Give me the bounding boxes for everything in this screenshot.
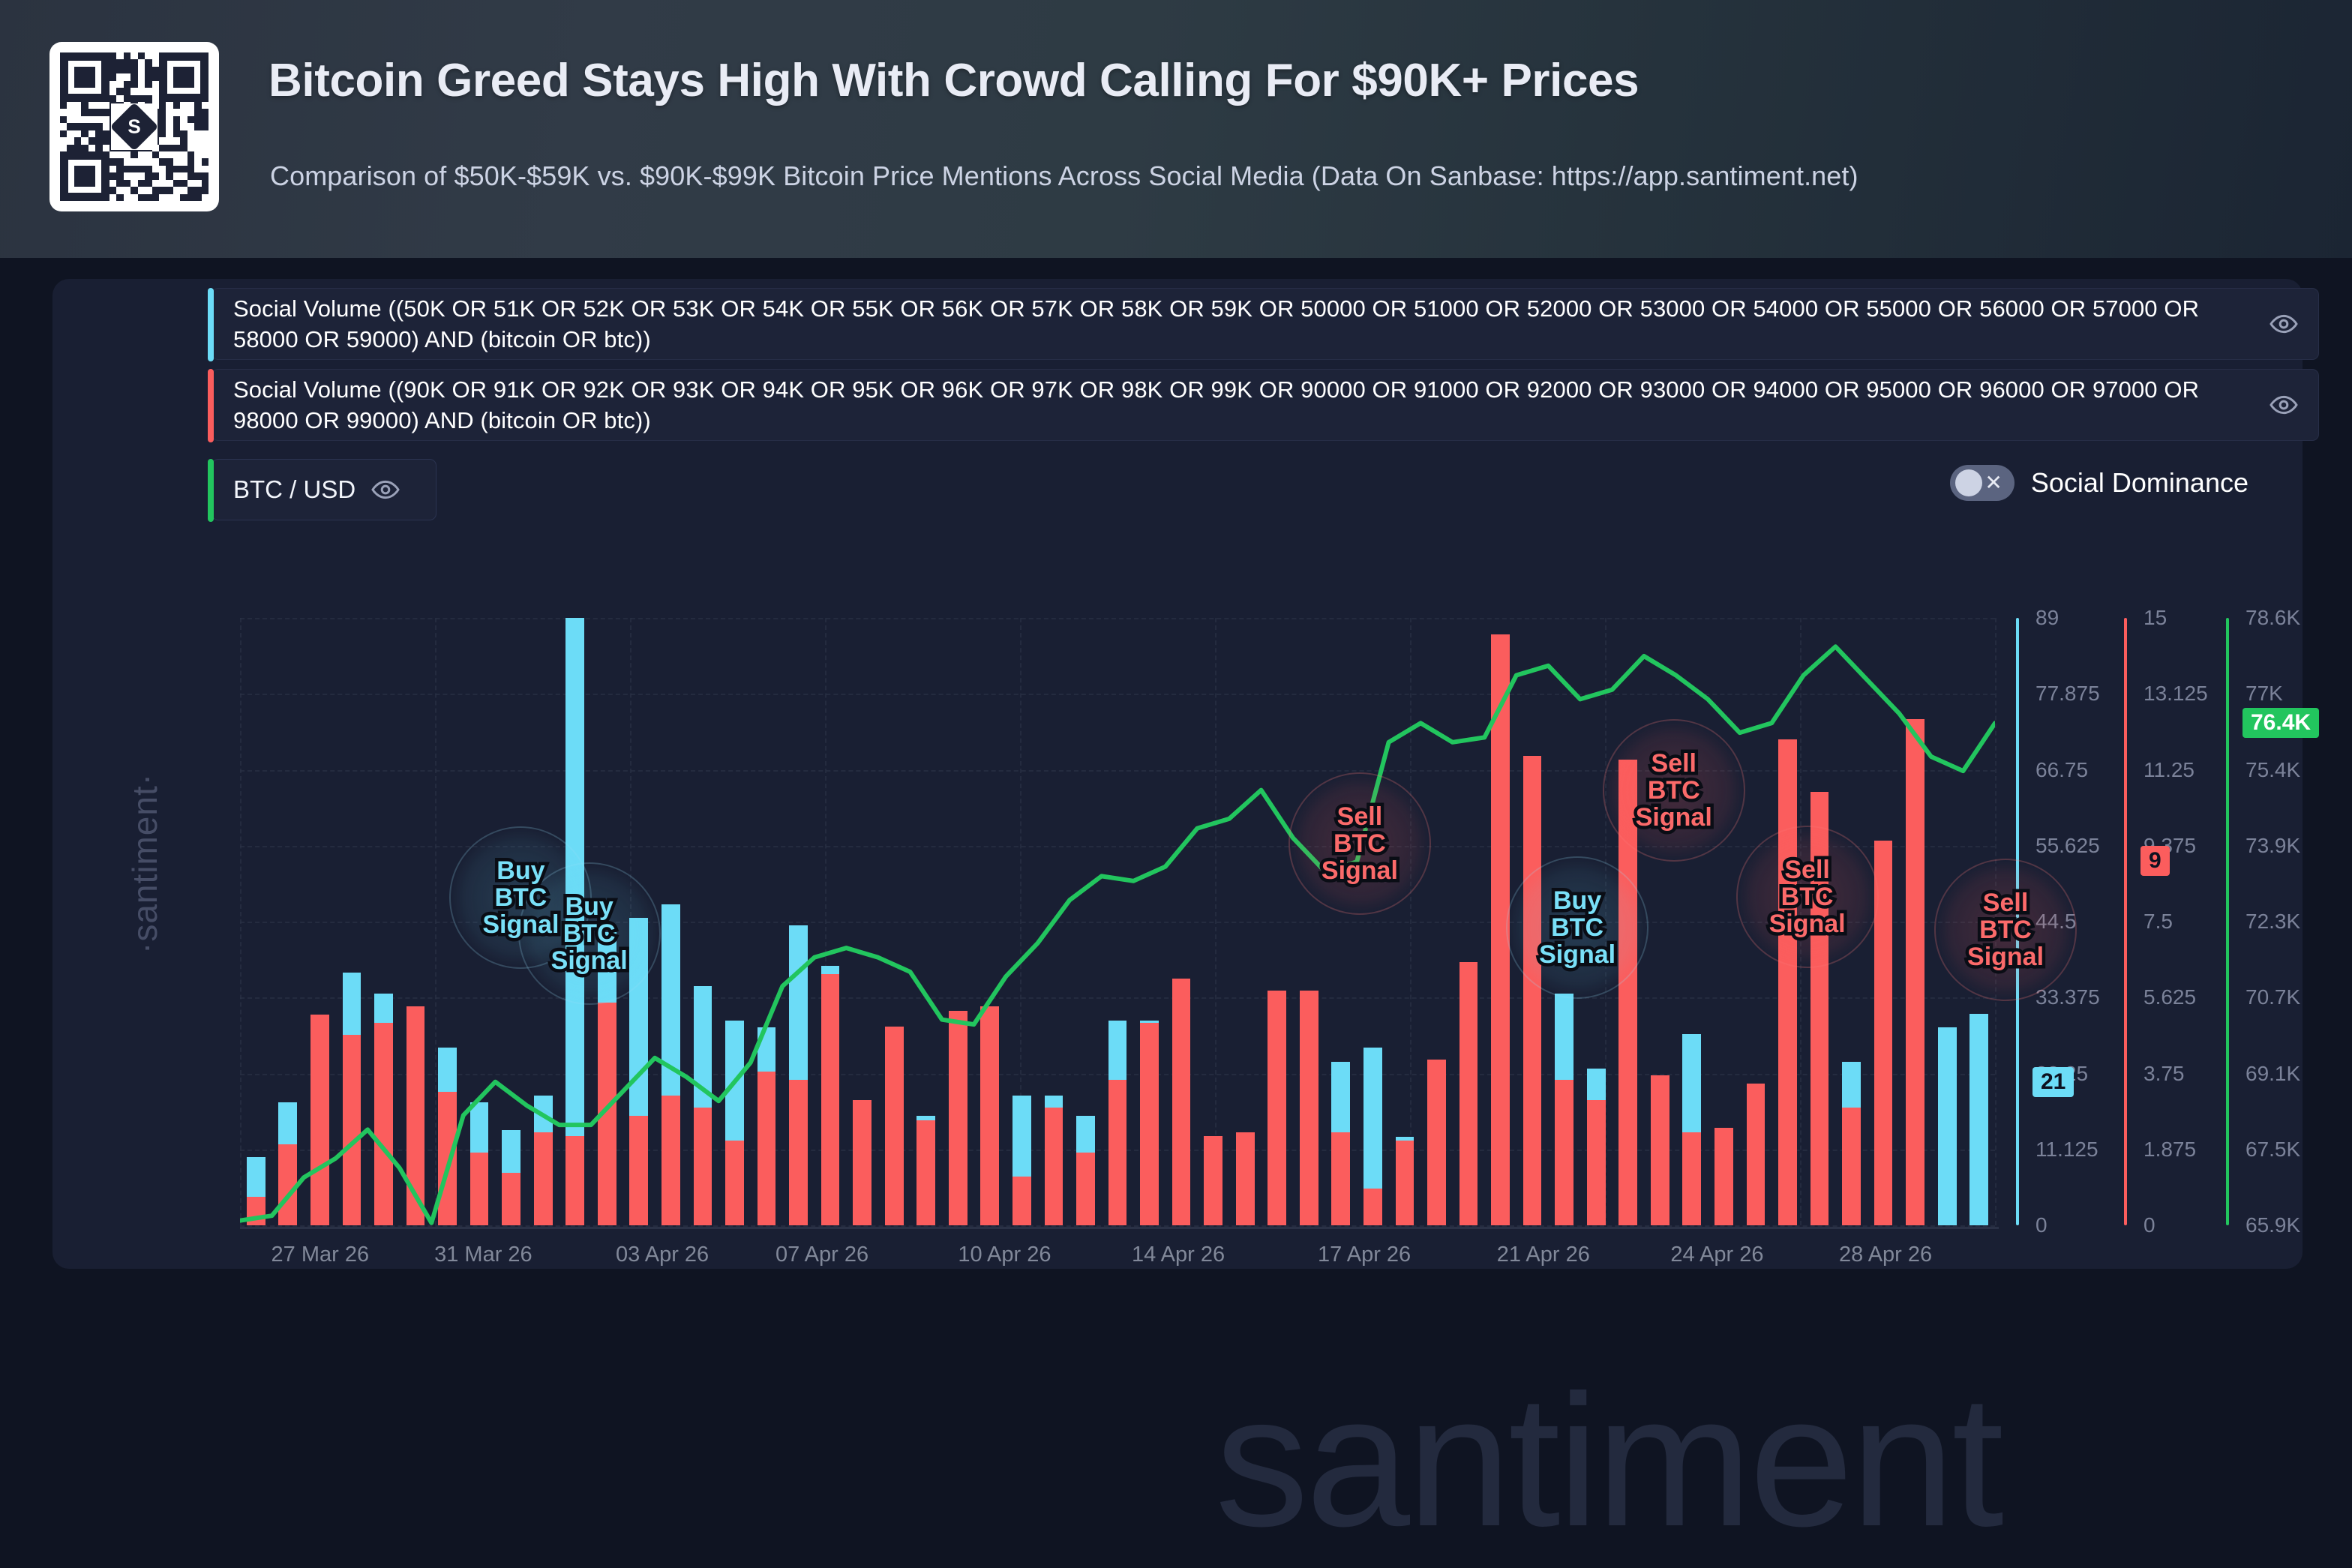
bar-social-volume-90k [470, 1153, 489, 1225]
bar-social-volume-90k [1842, 1108, 1861, 1225]
bar-social-volume-90k [1236, 1132, 1255, 1225]
bar-social-volume-90k [949, 1011, 967, 1225]
axis-current-value-badge: 21 [2032, 1067, 2074, 1097]
x-axis-tick-label: 10 Apr 26 [958, 1243, 1051, 1267]
series-color-swatch-red [208, 369, 214, 442]
bar-social-volume-90k [1108, 1080, 1127, 1225]
bar-social-volume-90k [374, 1023, 393, 1225]
bar-social-volume-90k [1140, 1023, 1159, 1225]
bar-social-volume-90k [980, 1006, 999, 1225]
bar-social-volume-90k [534, 1132, 553, 1225]
bar-social-volume-90k [1267, 991, 1286, 1225]
toggle-knob [1955, 469, 1982, 496]
legend-item-label: Social Volume ((50K OR 51K OR 52K OR 53K… [212, 293, 2237, 355]
axis-current-value-badge: 9 [2140, 846, 2170, 876]
bar-social-volume-90k [1778, 739, 1797, 1225]
x-axis-tick-label: 27 Mar 26 [271, 1243, 370, 1267]
signal-line: Signal [1964, 943, 2047, 970]
x-axis-tick-label: 28 Apr 26 [1839, 1243, 1932, 1267]
bar-social-volume-90k [1076, 1153, 1095, 1225]
axis-tick-label: 0 [2143, 1213, 2155, 1237]
sell-btc-signal[interactable]: SellBTCSignal [1725, 856, 1890, 937]
santiment-watermark-center: santiment [1215, 1353, 2001, 1568]
axis-tick-label: 70.7K [2245, 985, 2300, 1009]
sell-btc-signal[interactable]: SellBTCSignal [1923, 889, 2088, 970]
bar-social-volume-90k [565, 1136, 584, 1225]
legend-item-btc-usd[interactable]: BTC / USD [211, 459, 436, 520]
axis-tick-label: 11.125 [2035, 1138, 2098, 1162]
signal-line: Buy [1550, 887, 1604, 914]
bar-social-volume-90k [1682, 1132, 1701, 1225]
series-color-swatch-green [208, 459, 214, 522]
signal-line: Signal [548, 947, 631, 974]
bar-social-volume-90k [598, 1003, 616, 1225]
x-axis-tick-label: 21 Apr 26 [1497, 1243, 1590, 1267]
axis-tick-label: 55.625 [2035, 834, 2100, 858]
social-dominance-label: Social Dominance [2031, 467, 2248, 499]
signal-line: Signal [1766, 910, 1849, 937]
social-dominance-control[interactable]: ✕ Social Dominance [1950, 465, 2248, 501]
chart-plot-area[interactable]: santiment BuyBTCSignalBuyBTCSignalSellBT… [240, 618, 1995, 1225]
bar-social-volume-90k [1523, 756, 1542, 1225]
bar-social-volume-90k [789, 1080, 808, 1225]
axis-tick-label: 3.75 [2143, 1062, 2185, 1086]
bar-social-volume-90k [1012, 1177, 1031, 1225]
axis-tick-label: 66.75 [2035, 758, 2088, 782]
axis-tick-label: 75.4K [2245, 758, 2300, 782]
bar-social-volume-50k [1969, 1014, 1988, 1225]
gridline-h [240, 1225, 1995, 1227]
axis-spine [2124, 618, 2127, 1225]
page-header: S Bitcoin Greed Stays High With Crowd Ca… [0, 0, 2352, 258]
bar-social-volume-90k [694, 1108, 712, 1225]
sell-btc-signal[interactable]: SellBTCSignal [1591, 750, 1756, 831]
signal-line: BTC [1976, 916, 2035, 943]
bar-social-volume-50k [1938, 1027, 1957, 1225]
axis-tick-label: 11.25 [2143, 758, 2194, 782]
signal-line: BTC [1778, 883, 1837, 910]
bar-social-volume-90k [1045, 1108, 1063, 1225]
chart-card: Social Volume ((50K OR 51K OR 52K OR 53K… [52, 279, 2302, 1269]
bar-social-volume-90k [1906, 719, 1924, 1225]
axis-tick-label: 89 [2035, 606, 2059, 630]
series-color-swatch-blue [208, 288, 214, 361]
eye-icon[interactable] [2267, 388, 2300, 421]
axis-tick-label: 7.5 [2143, 910, 2173, 934]
axis-tick-label: 33.375 [2035, 985, 2100, 1009]
bar-social-volume-90k [1427, 1060, 1446, 1225]
axis-tick-label: 67.5K [2245, 1138, 2300, 1162]
signal-line: Signal [1536, 941, 1618, 968]
buy-btc-signal[interactable]: BuyBTCSignal [1495, 887, 1660, 968]
x-axis-tick-label: 17 Apr 26 [1318, 1243, 1411, 1267]
signal-line: Signal [1633, 804, 1715, 831]
signal-line: Signal [1318, 857, 1401, 884]
bar-social-volume-90k [278, 1144, 297, 1225]
x-axis-tick-label: 14 Apr 26 [1132, 1243, 1225, 1267]
legend-item-social-volume-50k[interactable]: Social Volume ((50K OR 51K OR 52K OR 53K… [211, 288, 2319, 360]
legend-item-social-volume-90k[interactable]: Social Volume ((90K OR 91K OR 92K OR 93K… [211, 369, 2319, 441]
bar-social-volume-90k [406, 1006, 425, 1225]
bar-social-volume-90k [1172, 979, 1191, 1225]
bar-social-volume-90k [1651, 1075, 1669, 1225]
legend-item-label: BTC / USD [233, 475, 355, 504]
bar-social-volume-90k [1363, 1189, 1382, 1225]
signal-line: BTC [1330, 830, 1389, 857]
x-axis-tick-label: 03 Apr 26 [616, 1243, 709, 1267]
bar-social-volume-90k [1300, 991, 1318, 1225]
axis-tick-label: 73.9K [2245, 834, 2300, 858]
axis-tick-label: 5.625 [2143, 985, 2196, 1009]
bar-social-volume-90k [1555, 1080, 1573, 1225]
axis-tick-label: 69.1K [2245, 1062, 2300, 1086]
signal-line: Sell [1781, 856, 1832, 883]
legend-item-label: Social Volume ((90K OR 91K OR 92K OR 93K… [212, 374, 2237, 436]
sell-btc-signal[interactable]: SellBTCSignal [1277, 803, 1442, 884]
axis-tick-label: 13.125 [2143, 682, 2208, 706]
signal-line: Sell [1334, 803, 1385, 830]
page-subtitle: Comparison of $50K-$59K vs. $90K-$99K Bi… [270, 160, 1858, 192]
axis-tick-label: 65.9K [2245, 1213, 2300, 1237]
eye-icon[interactable] [2267, 307, 2300, 340]
bar-social-volume-90k [629, 1116, 648, 1225]
bar-social-volume-90k [1714, 1128, 1733, 1225]
bar-social-volume-90k [853, 1100, 871, 1225]
santiment-watermark-side: ·santiment· [124, 773, 165, 954]
signal-line: Sell [1648, 750, 1699, 777]
bar-social-volume-90k [757, 1072, 776, 1225]
signal-line: Buy [562, 893, 616, 920]
axis-tick-label: 15 [2143, 606, 2167, 630]
bar-social-volume-90k [916, 1120, 935, 1225]
signal-line: BTC [1548, 914, 1606, 941]
axis-spine [2226, 618, 2229, 1225]
axis-tick-label: 1.875 [2143, 1138, 2196, 1162]
bar-social-volume-90k [1331, 1132, 1350, 1225]
qr-code[interactable]: S [49, 42, 219, 211]
x-axis-tick-label: 07 Apr 26 [775, 1243, 868, 1267]
close-x-icon: ✕ [1984, 472, 2002, 493]
axis-current-value-badge: 76.4K [2242, 708, 2319, 738]
signal-line: BTC [1645, 777, 1703, 804]
signal-line: Sell [1980, 889, 2031, 916]
bar-social-volume-90k [821, 974, 840, 1225]
bar-social-volume-90k [1204, 1136, 1222, 1225]
eye-icon[interactable] [370, 475, 400, 505]
bar-social-volume-90k [310, 1015, 329, 1225]
bar-social-volume-90k [725, 1141, 744, 1225]
bar-social-volume-90k [661, 1096, 680, 1225]
bar-social-volume-90k [247, 1197, 265, 1225]
axis-tick-label: 78.6K [2245, 606, 2300, 630]
x-axis: 27 Mar 2631 Mar 2603 Apr 2607 Apr 2610 A… [240, 1243, 1995, 1288]
axis-tick-label: 77K [2245, 682, 2283, 706]
page-title: Bitcoin Greed Stays High With Crowd Call… [268, 54, 1639, 107]
axis-tick-label: 77.875 [2035, 682, 2100, 706]
bar-social-volume-90k [343, 1035, 361, 1225]
bar-social-volume-90k [1396, 1141, 1414, 1225]
bar-social-volume-90k [1459, 962, 1478, 1225]
bar-social-volume-90k [502, 1173, 520, 1225]
bar-social-volume-90k [438, 1092, 457, 1225]
x-axis-tick-label: 31 Mar 26 [434, 1243, 532, 1267]
bar-social-volume-90k [1587, 1100, 1606, 1225]
axis-tick-label: 0 [2035, 1213, 2047, 1237]
signal-line: Buy [493, 857, 547, 884]
buy-btc-signal[interactable]: BuyBTCSignal [507, 893, 672, 974]
bar-social-volume-90k [885, 1027, 904, 1225]
signal-line: BTC [560, 920, 619, 947]
x-axis-line [240, 1227, 1999, 1229]
axis-tick-label: 72.3K [2245, 910, 2300, 934]
social-dominance-toggle[interactable]: ✕ [1950, 465, 2014, 501]
x-axis-tick-label: 24 Apr 26 [1670, 1243, 1763, 1267]
bar-social-volume-90k [1747, 1084, 1765, 1225]
